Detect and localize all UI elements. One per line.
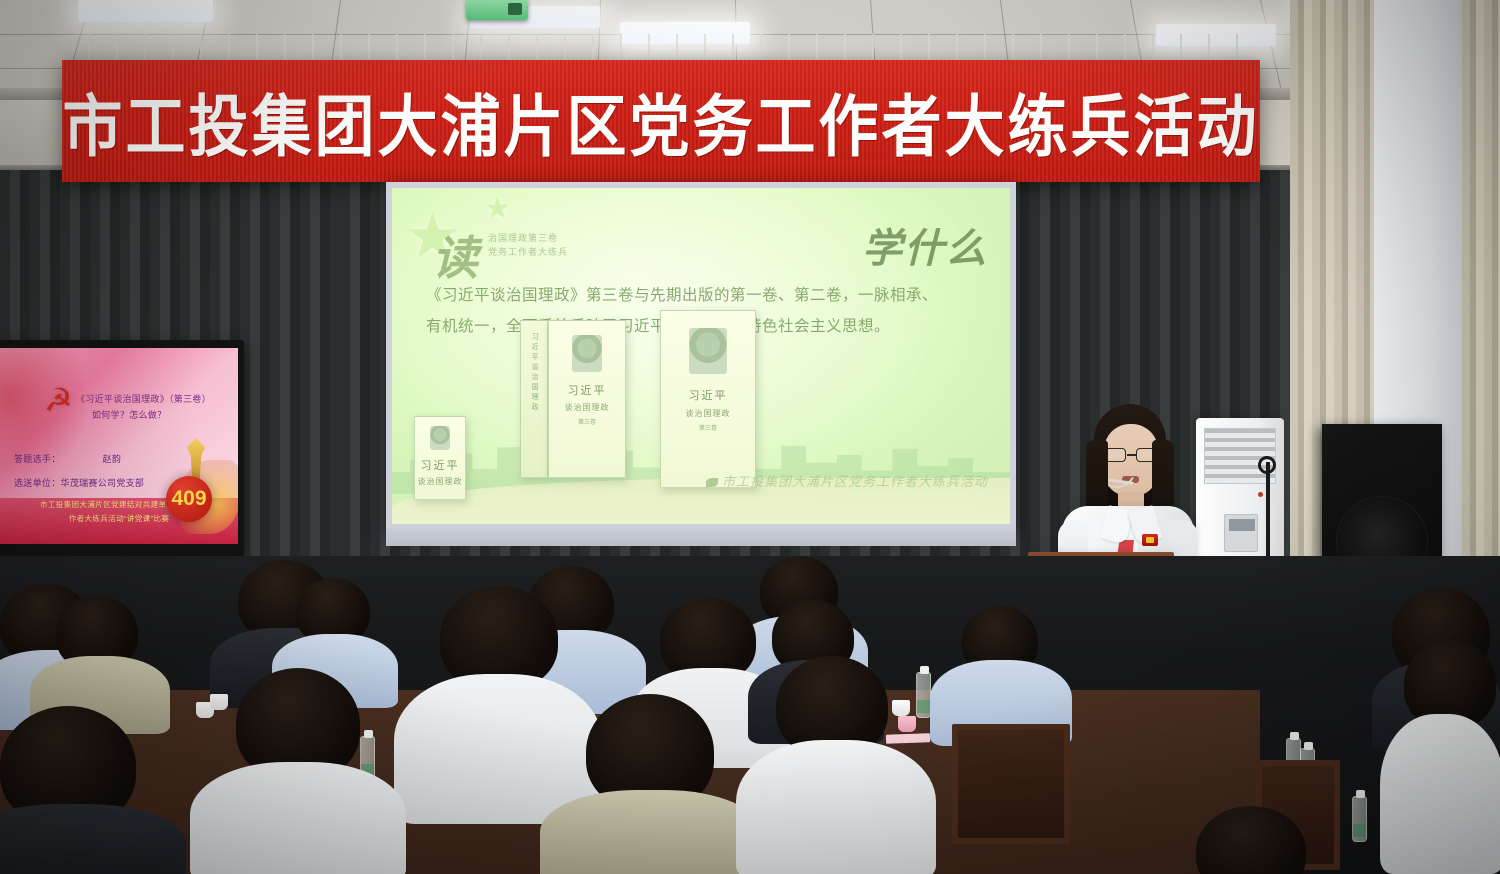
hammer-sickle-icon: ☭	[44, 384, 78, 418]
chair	[952, 724, 1070, 844]
tv-unit-label: 选送单位：	[14, 478, 61, 488]
ceiling-projector-icon	[466, 0, 528, 20]
audience-member	[736, 740, 936, 874]
portrait-icon	[572, 335, 602, 372]
tv-slide-title-line2: 如何学？怎么做？	[92, 408, 166, 421]
ac-power-led-icon	[1258, 492, 1263, 497]
slide-watermark-text: 市工投集团大浦片区党务工作者大练兵活动	[722, 474, 988, 489]
slide-right-mark: 学什么	[862, 216, 988, 274]
projection-screen-bottom-bar	[386, 524, 1016, 546]
tv-unit-row: 选送单位：华茂瑞赛公司党支部	[14, 476, 144, 489]
book-volume: 第三卷	[578, 417, 596, 426]
paper-cup	[898, 716, 916, 732]
star-icon: ★	[484, 194, 511, 224]
event-banner-text: 市工投集团大浦片区党务工作者大练兵活动	[63, 72, 1260, 169]
tv-slide-title-line1: 《习近平谈治国理政》（第三卷）	[76, 392, 211, 405]
book-subtitle: 谈治国理政	[418, 476, 463, 487]
book-volume: 第三卷	[699, 423, 717, 432]
book-title: 习近平	[421, 457, 460, 473]
book-subtitle: 谈治国理政	[565, 402, 610, 413]
tv-unit-name: 华茂瑞赛公司党支部	[61, 478, 145, 488]
water-bottle	[916, 672, 931, 718]
audience-member	[540, 790, 762, 874]
tv-badge-number: 409	[166, 476, 212, 522]
wall-tv-monitor: ☭ 《习近平谈治国理政》（第三卷） 如何学？怎么做？ 答题选手：赵韵 选送单位：…	[0, 340, 244, 558]
book-cover-second: 习近平 谈治国理政 第三卷	[548, 320, 626, 478]
book-cover-spine: 习近平谈治国理政	[520, 320, 548, 478]
slide-left-mark: 读	[432, 222, 478, 288]
audience-member	[190, 762, 406, 874]
portrait-icon	[689, 328, 727, 374]
tv-slide: ☭ 《习近平谈治国理政》（第三卷） 如何学？怎么做？ 答题选手：赵韵 选送单位：…	[0, 348, 238, 544]
paper-sheet	[886, 733, 930, 744]
tv-contestant-row: 答题选手：赵韵	[14, 452, 121, 465]
event-banner: 市工投集团大浦片区党务工作者大练兵活动	[62, 60, 1260, 182]
book-spine-label: 习近平谈治国理政	[529, 333, 539, 413]
book-title: 习近平	[568, 382, 607, 398]
audience-member	[1380, 714, 1500, 874]
slide-watermark: 市工投集团大浦片区党务工作者大练兵活动	[706, 471, 988, 490]
projection-screen: ★ ★ 读 治国理政第三卷党务工作者大练兵 学什么 《习近平谈治国理政》第三卷与…	[392, 188, 1010, 524]
watermark-dot-icon	[706, 478, 718, 487]
tv-contestant-name: 赵韵	[103, 454, 122, 464]
party-emblem-pin-icon	[1142, 534, 1158, 546]
projection-screen-frame: ★ ★ 读 治国理政第三卷党务工作者大练兵 学什么 《习近平谈治国理政》第三卷与…	[386, 182, 1016, 530]
book-subtitle: 谈治国理政	[686, 408, 731, 419]
book-cover-small: 习近平 谈治国理政	[414, 416, 466, 500]
ac-display-panel	[1224, 514, 1258, 552]
conference-hall-photo: 市工投集团大浦片区党务工作者大练兵活动 ★ ★ 读 治国理政第三卷党务工作者大练…	[0, 0, 1500, 874]
paper-cup	[892, 700, 910, 716]
banner-hanging-strings	[62, 34, 1260, 62]
ceiling-light-panel	[78, 0, 213, 22]
slide-left-mark-sub: 治国理政第三卷党务工作者大练兵	[488, 232, 568, 259]
slide-body-line1: 《习近平谈治国理政》第三卷与先期出版的第一卷、第二卷，一脉相承、	[426, 287, 938, 304]
book-cover-main: 习近平 谈治国理政 第三卷	[660, 310, 756, 488]
paper-cup	[210, 694, 228, 710]
water-bottle	[1352, 796, 1367, 842]
book-title: 习近平	[689, 387, 728, 403]
portrait-icon	[430, 426, 450, 450]
tv-contestant-label: 答题选手：	[14, 454, 61, 464]
